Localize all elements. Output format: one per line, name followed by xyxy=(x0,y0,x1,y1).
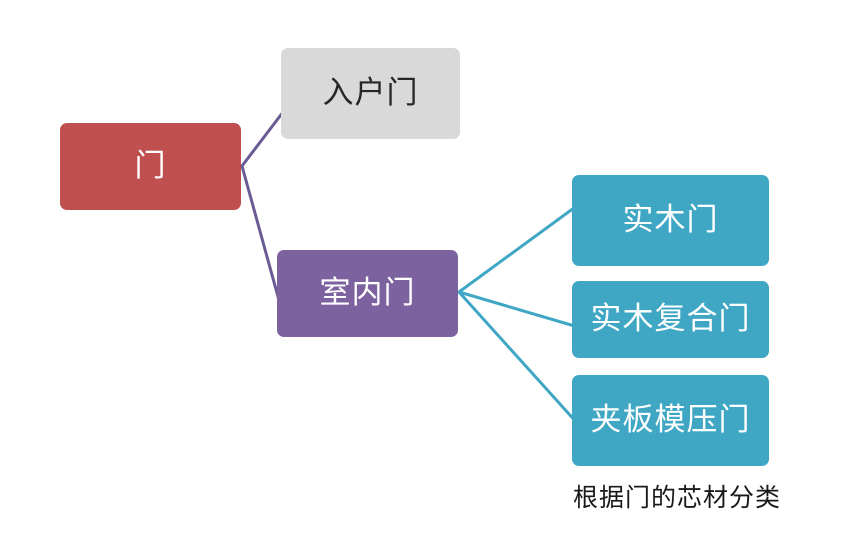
node-entry-door-label: 入户门 xyxy=(323,76,419,110)
node-entry-door[interactable]: 入户门 xyxy=(281,48,460,139)
node-solid-wood-composite-door-label: 实木复合门 xyxy=(591,302,751,336)
node-interior-door-label: 室内门 xyxy=(320,276,416,310)
node-root-door-label: 门 xyxy=(135,149,167,183)
edge-interior-to-molded-door xyxy=(459,292,578,424)
diagram-canvas: 门 入户门 室内门 实木门 实木复合门 夹板模压门 根据门的芯材分类 xyxy=(0,0,841,545)
edge-interior-to-solid-wood-door xyxy=(459,205,578,292)
node-solid-wood-door[interactable]: 实木门 xyxy=(572,175,769,266)
node-root-door[interactable]: 门 xyxy=(60,123,241,210)
node-plywood-molded-door-label: 夹板模压门 xyxy=(591,403,751,437)
node-plywood-molded-door[interactable]: 夹板模压门 xyxy=(572,375,769,466)
edge-interior-to-composite-door xyxy=(459,292,578,327)
diagram-caption: 根据门的芯材分类 xyxy=(562,478,792,514)
node-solid-wood-door-label: 实木门 xyxy=(623,203,719,237)
node-interior-door[interactable]: 室内门 xyxy=(277,250,458,337)
node-solid-wood-composite-door[interactable]: 实木复合门 xyxy=(572,281,769,358)
